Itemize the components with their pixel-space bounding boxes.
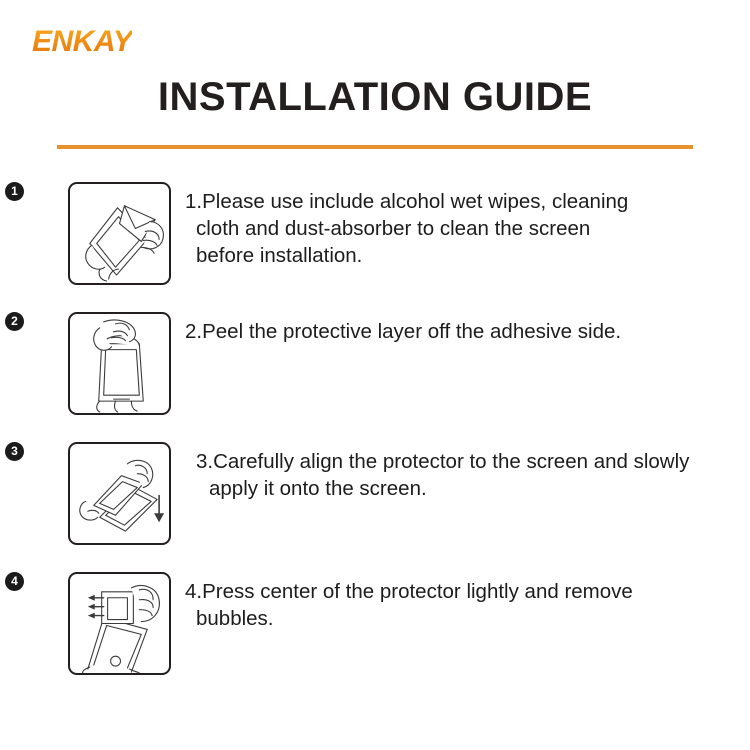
page-title: INSTALLATION GUIDE	[0, 76, 750, 118]
step-description: 3.Carefully align the protector to the s…	[185, 448, 719, 502]
step-number-badge: 3	[5, 442, 24, 461]
step-description: 1.Please use include alcohol wet wipes, …	[185, 188, 706, 269]
step-illustration-2	[68, 312, 171, 415]
step-description: 4.Press center of the protector lightly …	[185, 578, 706, 632]
step-illustration-1	[68, 182, 171, 285]
list-item: 3 3.Carefully align the protector to the…	[0, 438, 750, 568]
brand-logo: ENKAY	[30, 25, 132, 59]
list-item: 1 1.Please use include alcohol wet wipes…	[0, 178, 750, 308]
step-illustration-3	[68, 442, 171, 545]
step-illustration-4	[68, 572, 171, 675]
list-item: 4 4.Press center of the protector lightl…	[0, 568, 750, 698]
step-description: 2.Peel the protective layer off the adhe…	[185, 318, 706, 345]
brand-logo-text: ENKAY	[30, 27, 132, 57]
step-number-badge: 1	[5, 182, 24, 201]
steps-list: 1 1.Please use include alcohol wet wipes…	[0, 178, 750, 698]
list-item: 2 2.Peel the protective layer off the ad…	[0, 308, 750, 438]
step-number-badge: 4	[5, 572, 24, 591]
title-divider	[57, 145, 693, 149]
step-number-badge: 2	[5, 312, 24, 331]
